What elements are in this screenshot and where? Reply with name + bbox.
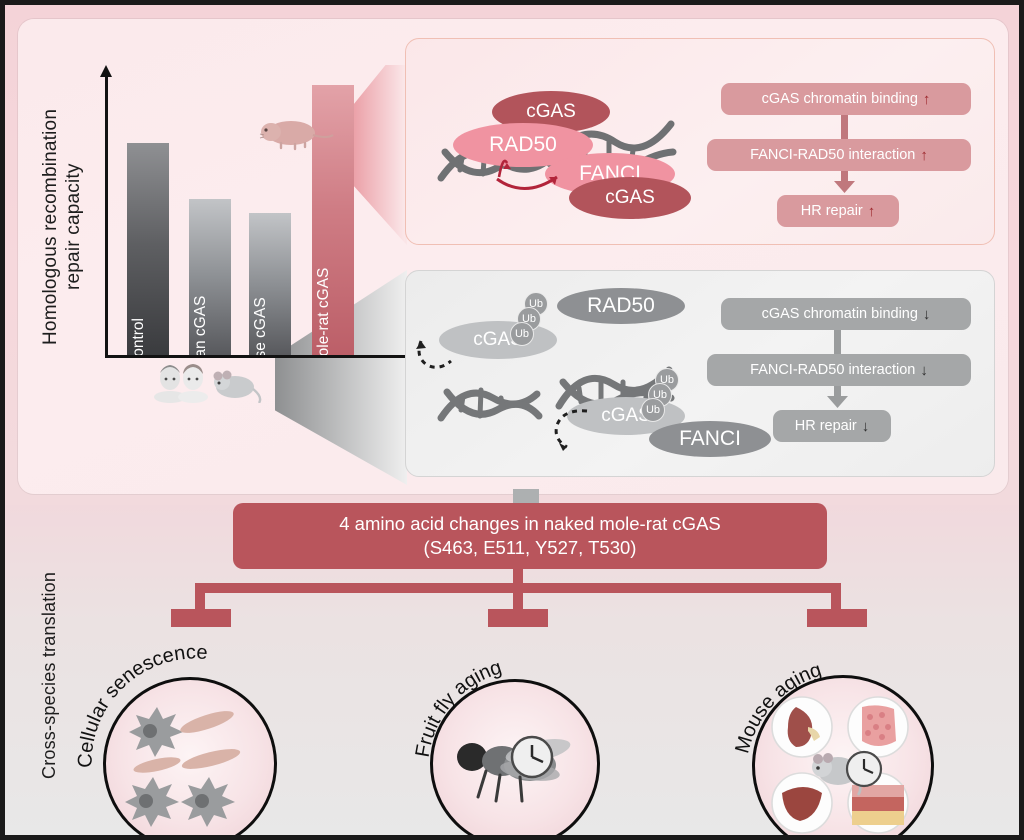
bar-label-human-cgas: Human cGAS <box>192 296 210 355</box>
section-label-hr-capacity: Homologous recombination repair capacity <box>39 67 85 387</box>
branch-foot-right <box>807 609 867 627</box>
human-pair-icon <box>153 361 263 403</box>
dissociation-arrow-icon <box>409 335 459 380</box>
outcome-cellular-senescence: Cellular senescence <box>85 645 315 840</box>
y-axis <box>105 75 108 355</box>
protein-label: cGAS <box>605 187 655 209</box>
flow-label: FANCI-RAD50 interaction <box>750 147 915 163</box>
outcome-mouse-aging: Mouse aging <box>730 645 960 840</box>
naked-mole-rat-icon <box>257 113 337 153</box>
ubiquitin-icon: Ub <box>510 322 534 346</box>
down-arrow-icon: ↓ <box>862 418 870 435</box>
flow-label: cGAS chromatin binding <box>762 91 918 107</box>
outcome-fruit-fly-aging: Fruit fly aging <box>410 645 640 840</box>
dissociation-arrow-icon <box>545 403 595 451</box>
flow-box-hr-repair-down: HR repair ↓ <box>773 410 891 442</box>
interaction-arrow-icon <box>485 145 595 195</box>
amino-acid-changes-banner: 4 amino acid changes in naked mole-rat c… <box>233 503 827 569</box>
bar-label-mouse-cgas: Mouse cGAS <box>252 297 270 355</box>
bar-label-control: Control <box>130 318 148 355</box>
section-label-cross-species: Cross-species translation <box>39 525 60 825</box>
fruit-fly-clock-icon <box>430 679 594 840</box>
hr-capacity-bar-chart: Control Human cGAS Mouse cGAS Naked mole… <box>97 67 427 367</box>
flow-box-chromatin-binding-up: cGAS chromatin binding ↑ <box>721 83 971 115</box>
mouse-organs-clock-icon <box>752 675 928 840</box>
branch-horizontal <box>195 583 841 593</box>
flow-box-fanci-rad50-up: FANCI-RAD50 interaction ↑ <box>707 139 971 171</box>
flow-box-hr-repair-up: HR repair ↑ <box>777 195 899 227</box>
bar-mouse-cgas: Mouse cGAS <box>249 213 291 355</box>
flow-connector-2 <box>831 171 859 195</box>
up-arrow-icon: ↑ <box>868 203 876 220</box>
bar-label-naked-mole-rat-cgas: Naked mole-rat cGAS <box>315 268 333 355</box>
protein-oval-fanci-gray: FANCI <box>649 421 771 457</box>
flow-label: cGAS chromatin binding <box>762 306 918 322</box>
flow-connector-1 <box>841 115 848 139</box>
senescent-cells-icon <box>103 677 271 840</box>
bar-human-cgas: Human cGAS <box>189 199 231 355</box>
flow-connector-2-gray <box>824 386 852 410</box>
flow-box-fanci-rad50-down: FANCI-RAD50 interaction ↓ <box>707 354 971 386</box>
down-arrow-icon: ↓ <box>920 362 928 379</box>
banner-line-1: 4 amino acid changes in naked mole-rat c… <box>339 512 721 536</box>
up-arrow-icon: ↑ <box>923 91 931 108</box>
flow-label: HR repair <box>795 418 857 434</box>
protein-oval-rad50-gray: RAD50 <box>557 288 685 324</box>
protein-label: RAD50 <box>587 294 655 318</box>
banner-line-2: (S463, E511, Y527, T530) <box>424 536 637 560</box>
bar-control: Control <box>127 143 169 355</box>
protein-label: cGAS <box>526 101 576 123</box>
protein-label: FANCI <box>679 427 741 451</box>
up-arrow-icon: ↑ <box>920 147 928 164</box>
down-arrow-icon: ↓ <box>923 306 931 323</box>
flow-label: FANCI-RAD50 interaction <box>750 362 915 378</box>
x-axis <box>105 355 405 358</box>
flow-connector-1-gray <box>834 330 841 354</box>
branch-foot-center <box>488 609 548 627</box>
ubiquitin-icon: Ub <box>641 398 665 422</box>
flow-label: HR repair <box>801 203 863 219</box>
figure-canvas: Homologous recombination repair capacity… <box>0 0 1024 840</box>
flow-box-chromatin-binding-down: cGAS chromatin binding ↓ <box>721 298 971 330</box>
branch-foot-left <box>171 609 231 627</box>
